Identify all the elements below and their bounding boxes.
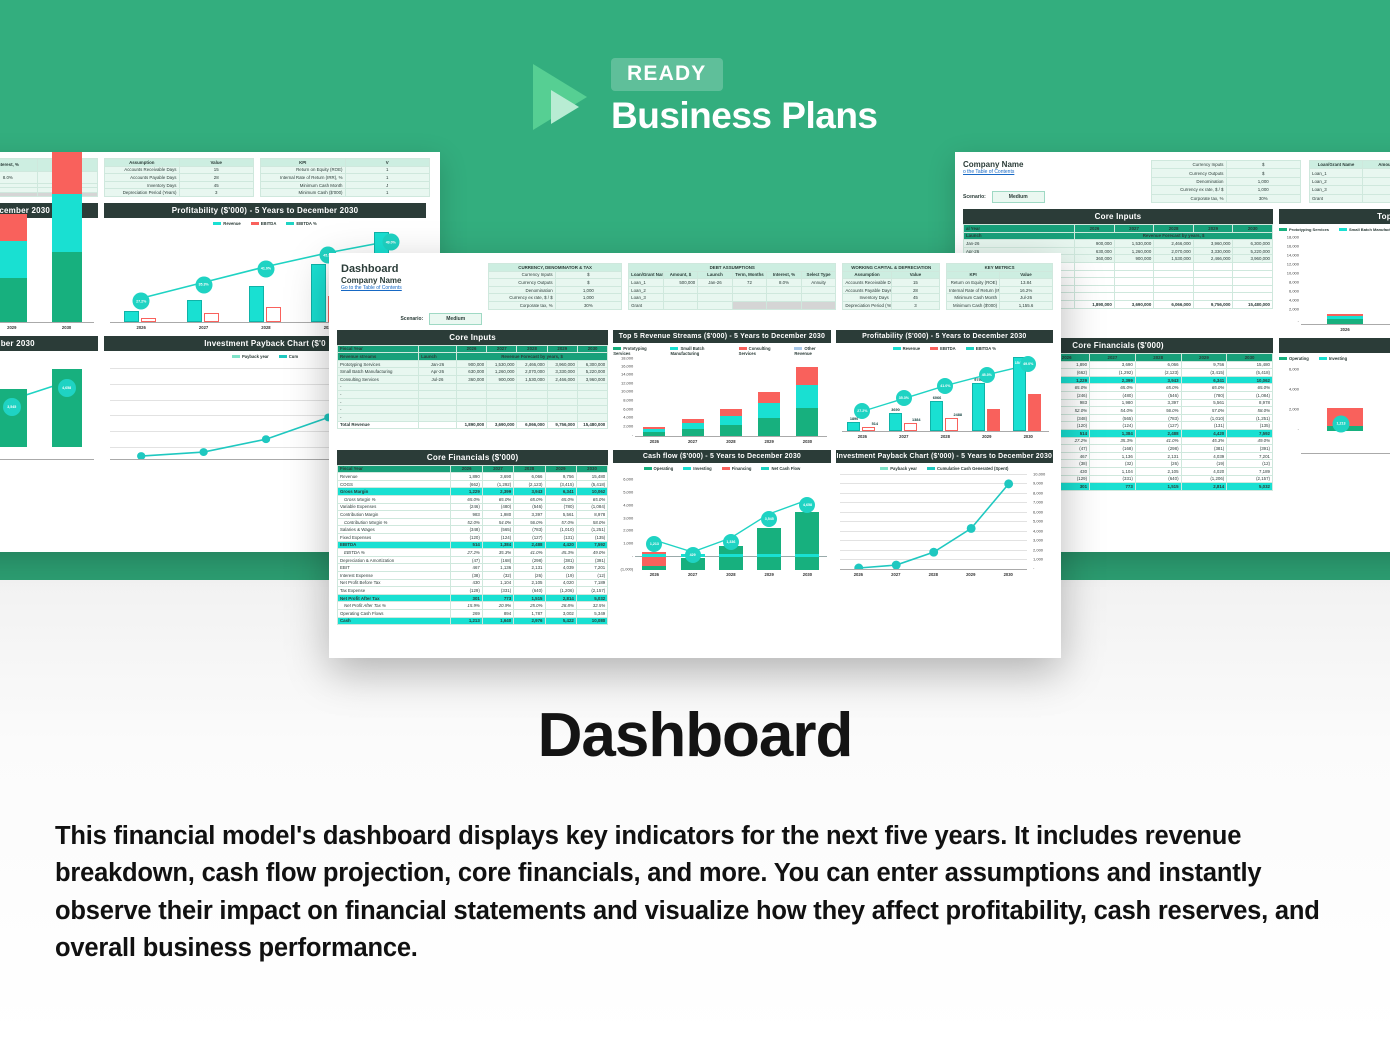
x-tick: 2028: [719, 572, 743, 577]
data-point: 1,336: [723, 534, 739, 550]
year-header: 2028: [514, 465, 545, 473]
financial-value: (32): [482, 571, 513, 579]
table-row[interactable]: Net Profit After Tax %15.9%20.9%25.0%28.…: [338, 602, 608, 610]
stream-name: -: [338, 391, 419, 399]
debt-cell: 72: [732, 279, 767, 287]
legend-item: Financing: [722, 466, 752, 471]
wc-col-header: Value: [891, 271, 939, 279]
stream-value: 630,000: [456, 368, 486, 376]
wc-cell: Inventory Days: [843, 294, 891, 302]
kpi-value: 1,155.6: [1000, 301, 1053, 309]
financial-value: (246): [451, 503, 482, 511]
legend-item: Other Revenue: [794, 346, 830, 356]
table-row[interactable]: Loan_3: [629, 294, 836, 302]
y-tick: 10,000: [1033, 471, 1053, 476]
legend-item: Net Cash Flow: [761, 466, 800, 471]
key-metrics-table: KEY METRICS KPIValue Return on Equity (R…: [946, 263, 1053, 310]
debt-col-header: Launch: [698, 271, 733, 279]
cash-flow-chart[interactable]: Cash flow ($'000) - 5 Years to December …: [613, 450, 830, 625]
legend-item: Small Batch Manufacturing: [670, 346, 728, 356]
y-tick: 2,000: [613, 528, 633, 533]
wc-cell: Depreciation Period (Years): [843, 301, 891, 309]
legend-item: Revenue: [893, 346, 920, 351]
financial-value: 5,032: [576, 594, 607, 602]
data-point: 41.0%: [937, 378, 953, 394]
financial-value: 58.0%: [576, 518, 607, 526]
revenue-streams-x-axis: 2026 2027 2028 2029 2030: [635, 439, 826, 444]
spreadsheet-panel-center[interactable]: Dashboard Company Name Go to the Table o…: [329, 253, 1061, 658]
x-tick: 2029: [972, 434, 1002, 439]
year-header: 2029: [545, 465, 576, 473]
financial-value: 32.5%: [576, 602, 607, 610]
stream-name: -: [338, 383, 419, 391]
debt-cell: Jan-26: [698, 279, 733, 287]
financial-value: (19): [545, 571, 576, 579]
cash-flow-x-axis: 2026 2027 2028 2029 2030: [635, 572, 826, 577]
debt-col-header: Interest, %: [767, 271, 802, 279]
currency-block-header: CURRENCY, DENOMINATOR & TAX: [489, 264, 622, 272]
x-tick: 2029: [959, 572, 983, 577]
wc-cell[interactable]: 28: [891, 286, 939, 294]
stream-value: 6,300,000: [577, 360, 607, 368]
financial-row-label: EBIT: [338, 564, 451, 572]
financial-value: 7,592: [576, 541, 607, 549]
financial-value: 5,349: [576, 609, 607, 617]
y-tick: 6,000: [613, 477, 633, 482]
bar-label: 2488: [954, 413, 962, 417]
bar-label: 6066: [933, 396, 941, 400]
x-tick: 2029: [757, 572, 781, 577]
wc-col-header: Assumption: [843, 271, 891, 279]
y-tick: 1,000: [1033, 557, 1053, 562]
financial-value: 54.0%: [482, 518, 513, 526]
table-row[interactable]: Net Profit Before Tax4301,1042,1054,0207…: [338, 579, 608, 587]
kpi-block-header: KEY METRICS: [947, 264, 1053, 272]
financial-row-label: EBITDA %: [338, 549, 451, 557]
fiscal-year-label: Fiscal Year: [338, 345, 419, 353]
financial-value: 8,978: [576, 511, 607, 519]
financial-value: (5,418): [576, 480, 607, 488]
stream-value: 2,466,000: [547, 376, 577, 384]
financial-value: 6,341: [545, 488, 576, 496]
currency-row-label: Currency Outputs: [489, 279, 556, 287]
currency-row-value[interactable]: $: [555, 271, 622, 279]
kpi-cell: Internal Rate of Return (IRR), %: [947, 286, 1000, 294]
financial-value: 467: [451, 564, 482, 572]
financial-row-label: Net Profit After Tax %: [338, 602, 451, 610]
stream-value: 2,466,000: [517, 360, 547, 368]
financial-value: (131): [545, 533, 576, 541]
table-row[interactable]: -: [338, 406, 608, 414]
x-tick: 2027: [884, 572, 908, 577]
year-header: 2026: [456, 345, 486, 353]
financial-value: 4,420: [545, 541, 576, 549]
y-tick: 1,000: [613, 541, 633, 546]
financial-value: 65.0%: [576, 496, 607, 504]
y-tick: 4,000: [613, 502, 633, 507]
financial-value: (662): [451, 480, 482, 488]
debt-table-right: Loan/Grant NameAmount, $Launch Loan_1500…: [1309, 160, 1390, 203]
financial-value: 5,422: [545, 617, 576, 625]
financial-row-label: Gross Margin: [338, 488, 451, 496]
stream-name: -: [338, 406, 419, 414]
financial-value: (3,415): [545, 480, 576, 488]
financial-value: (120): [451, 533, 482, 541]
financial-value: 20.9%: [482, 602, 513, 610]
financial-value: (168): [482, 556, 513, 564]
financial-value: 2,976: [514, 617, 545, 625]
y-tick: 10,000: [613, 389, 633, 394]
payback-x-axis: 2026 2027 2028 2029 2030: [840, 572, 1027, 577]
financial-value: (2,157): [576, 587, 607, 595]
year-header: 2029: [547, 345, 577, 353]
working-capital-table: WORKING CAPITAL & DEPRECIATION Assumptio…: [842, 263, 940, 310]
table-row[interactable]: EBITDA5141,3842,4884,4207,592: [338, 541, 608, 549]
profitability-legend: Revenue EBITDA EBITDA %: [836, 343, 1053, 352]
x-tick: 2030: [1013, 434, 1043, 439]
data-point: 429: [685, 547, 701, 563]
debt-col-header: Select Type: [801, 271, 836, 279]
legend-item: Prototyping Services: [613, 346, 660, 356]
financial-row-label: Depreciation & Amortization: [338, 556, 451, 564]
debt-cell: 8.0%: [767, 279, 802, 287]
toc-link[interactable]: Go to the Table of Contents: [341, 285, 482, 291]
profitability-chart-title: Profitability ($'000) - 5 Years to Decem…: [836, 330, 1053, 343]
currency-denominator-tax-table: CURRENCY, DENOMINATOR & TAX Currency Inp…: [488, 263, 622, 310]
total-revenue-value: 15,480,000: [577, 421, 607, 429]
kpi-col-header: KPI: [947, 271, 1000, 279]
financial-row-label: Contribution Margin: [338, 511, 451, 519]
profitability-chart[interactable]: Profitability ($'000) - 5 Years to Decem…: [836, 330, 1053, 444]
financial-value: 1,213: [451, 617, 482, 625]
table-row[interactable]: Loan_1 500,000 Jan-26 72 8.0% Annuity: [629, 279, 836, 287]
debt-col-header: Loan/Grant Name: [629, 271, 664, 279]
x-tick: 2030: [996, 572, 1020, 577]
year-header: 2030: [576, 465, 607, 473]
table-row[interactable]: Small Batch Manufacturing Apr-26 630,000…: [338, 368, 608, 376]
table-row[interactable]: -: [338, 413, 608, 421]
fiscal-year-label: Fiscal Year: [338, 465, 451, 473]
x-tick: 2026: [642, 572, 666, 577]
wc-block-header: WORKING CAPITAL & DEPRECIATION: [843, 264, 940, 272]
y-tick: -: [613, 432, 633, 437]
revenue-streams-chart-title: Top 5 Revenue Streams ($'000) - 5 Years …: [613, 330, 830, 343]
table-row[interactable]: Variable Expenses(246)(480)(546)(780)(1,…: [338, 503, 608, 511]
financial-row-label: Variable Expenses: [338, 503, 451, 511]
financial-value: 3,397: [514, 511, 545, 519]
debt-col-header: Term, Months: [732, 271, 767, 279]
financial-value: 28.8%: [545, 602, 576, 610]
financial-value: 65.0%: [545, 496, 576, 504]
cash-flow-legend: Operating Investing Financing Net Cash F…: [613, 463, 830, 472]
core-inputs-header: Core Inputs: [337, 330, 608, 345]
bar-label: 3690: [891, 408, 899, 412]
y-tick: (1,000): [613, 566, 633, 571]
ready-badge: READY: [611, 58, 723, 91]
y-tick: 2,000: [1033, 547, 1053, 552]
table-row[interactable]: Operating Cash Flows2698941,7873,0025,34…: [338, 609, 608, 617]
page-description: This financial model's dashboard display…: [55, 818, 1345, 968]
currency-row-value[interactable]: 1,000: [555, 286, 622, 294]
investment-payback-chart[interactable]: Investment Payback Chart ($'000) - 5 Yea…: [836, 450, 1053, 625]
stream-value: 360,000: [456, 376, 486, 384]
financial-value: 514: [451, 541, 482, 549]
scenario-select[interactable]: Medium: [429, 313, 482, 325]
wc-cell[interactable]: 45: [891, 294, 939, 302]
financial-value: 5,561: [545, 511, 576, 519]
stream-value: 3,960,000: [547, 360, 577, 368]
stream-value: 5,220,000: [577, 368, 607, 376]
table-row[interactable]: EBITDA %27.2%35.3%41.0%45.3%49.0%: [338, 549, 608, 557]
bar-label: 4420: [995, 404, 1003, 408]
financial-row-label: Interest Expense: [338, 571, 451, 579]
financial-value: 3,943: [514, 488, 545, 496]
kpi-value: Jul-26: [1000, 294, 1053, 302]
financial-value: 3,690: [482, 473, 513, 481]
currency-row-label: Currency ex rate, $ / $: [489, 294, 556, 302]
financial-value: 7,201: [576, 564, 607, 572]
financial-value: 1,384: [482, 541, 513, 549]
financial-value: 430: [451, 579, 482, 587]
scenario-label-right: Scenario:: [963, 194, 986, 200]
financial-value: 7,189: [576, 579, 607, 587]
debt-assumptions-table-left: Amount, $LaunchTerm, MonthsInterest, %Se…: [0, 158, 98, 197]
stream-launch: Jan-26: [419, 360, 457, 368]
financial-value: 56.0%: [514, 518, 545, 526]
financial-value: (47): [451, 556, 482, 564]
x-tick: 2027: [682, 439, 704, 444]
financial-row-label: Operating Cash Flows: [338, 609, 451, 617]
currency-row-value[interactable]: $: [555, 279, 622, 287]
currency-row-label: Denomination: [489, 286, 556, 294]
stream-value: 3,330,000: [547, 368, 577, 376]
financial-row-label: Cash: [338, 617, 451, 625]
table-row[interactable]: Consulting Services Jul-26 360,000 900,0…: [338, 376, 608, 384]
debt-cell: Loan_3: [629, 294, 664, 302]
kpi-value: 13.84: [1000, 279, 1053, 287]
data-point: 27.2%: [854, 403, 870, 419]
financial-value: 2,488: [514, 541, 545, 549]
stream-name: -: [338, 413, 419, 421]
financial-row-label: Revenue: [338, 473, 451, 481]
scenario-value-right[interactable]: Medium: [992, 191, 1045, 203]
financial-value: (640): [514, 587, 545, 595]
financial-row-label: Net Profit After Tax: [338, 594, 451, 602]
financial-value: 1,229: [451, 488, 482, 496]
wc-cell: Accounts Receivable Days: [843, 279, 891, 287]
toc-link-right[interactable]: o the Table of Contents: [963, 169, 1143, 175]
financial-value: 1,980: [482, 511, 513, 519]
table-row[interactable]: Revenue1,8903,6906,0669,75615,480: [338, 473, 608, 481]
page-title: Dashboard: [0, 700, 1390, 771]
financial-value: 2,814: [545, 594, 576, 602]
stream-name: Prototyping Services: [338, 360, 419, 368]
table-row[interactable]: -: [338, 383, 608, 391]
table-row[interactable]: Gross Margin1,2292,3993,9436,34110,062: [338, 488, 608, 496]
financial-value: 269: [451, 609, 482, 617]
financial-value: (331): [482, 587, 513, 595]
legend-item: Payback year: [880, 466, 917, 471]
stream-value: 900,000: [487, 376, 517, 384]
data-point: 3,545: [761, 511, 777, 527]
stream-value: 900,000: [456, 360, 486, 368]
stream-name: Small Batch Manufacturing: [338, 368, 419, 376]
table-row[interactable]: Net Profit After Tax3017731,5152,8145,03…: [338, 594, 608, 602]
x-tick: 2027: [681, 572, 705, 577]
financial-value: 1,136: [482, 564, 513, 572]
financial-row-label: Gross Margin %: [338, 496, 451, 504]
table-row[interactable]: Depreciation & Amortization(47)(168)(298…: [338, 556, 608, 564]
stream-name: Consulting Services: [338, 376, 419, 384]
currency-table-right: Currency Inputs$ Currency Outputs$ Denom…: [1151, 160, 1301, 203]
currency-row-value[interactable]: 1,000: [555, 294, 622, 302]
financial-value: 57.0%: [545, 518, 576, 526]
financial-value: (348): [451, 526, 482, 534]
bar-stack: [796, 367, 818, 436]
bar-label: 514: [872, 422, 878, 426]
core-financials-header: Core Financials ($'000): [337, 450, 608, 465]
debt-block-header: DEBT ASSUMPTIONS: [629, 264, 836, 272]
launch-label: Launch: [419, 353, 457, 361]
financial-value: (1,292): [482, 480, 513, 488]
financial-value: 65.0%: [451, 496, 482, 504]
debt-cell: 500,000: [663, 279, 698, 287]
total-revenue-value: 3,690,000: [487, 421, 517, 429]
kpi-cell: Minimum Cash Month: [947, 294, 1000, 302]
company-name-right: Company Name: [963, 160, 1143, 169]
financial-value: 65.0%: [482, 496, 513, 504]
financial-value: 301: [451, 594, 482, 602]
financial-value: 45.3%: [545, 549, 576, 557]
table-row[interactable]: Cash1,2131,6402,9765,42210,080: [338, 617, 608, 625]
currency-row-value[interactable]: 30%: [555, 301, 622, 309]
y-tick: 8,000: [613, 398, 633, 403]
total-revenue-value: 9,756,000: [547, 421, 577, 429]
table-row[interactable]: Tax Expense(129)(331)(640)(1,206)(2,157): [338, 587, 608, 595]
stream-value: 2,070,000: [517, 368, 547, 376]
y-tick: 3,000: [1033, 538, 1053, 543]
stream-value: 1,260,000: [487, 368, 517, 376]
table-row[interactable]: Fixed Expenses(120)(124)(127)(131)(135): [338, 533, 608, 541]
financial-value: 27.2%: [451, 549, 482, 557]
y-tick: 16,000: [613, 364, 633, 369]
y-tick: 14,000: [613, 372, 633, 377]
financial-value: 773: [482, 594, 513, 602]
financial-value: 41.0%: [514, 549, 545, 557]
financial-value: (480): [482, 503, 513, 511]
y-tick: 9,000: [1033, 481, 1053, 486]
table-row[interactable]: Interest Expense(38)(32)(26)(19)(12): [338, 571, 608, 579]
table-row[interactable]: Gross Margin %65.0%65.0%65.0%65.0%65.0%: [338, 496, 608, 504]
table-row[interactable]: Contribution Margin %52.0%54.0%56.0%57.0…: [338, 518, 608, 526]
wc-cell[interactable]: 15: [891, 279, 939, 287]
y-tick: -: [613, 553, 633, 558]
table-row[interactable]: EBIT4671,1362,1314,0397,201: [338, 564, 608, 572]
table-row[interactable]: Salaries & Wages(348)(565)(783)(1,010)(1…: [338, 526, 608, 534]
total-revenue-value: 1,890,000: [456, 421, 486, 429]
financial-row-label: Contribution Margin %: [338, 518, 451, 526]
key-metrics-table-left: KPIV Return on Equity (ROE)1 Internal Ra…: [260, 158, 430, 197]
debt-cell: Grant: [629, 301, 664, 309]
x-tick: 2027: [889, 434, 919, 439]
financial-value: 4,020: [545, 579, 576, 587]
financial-value: 10,062: [576, 488, 607, 496]
debt-assumptions-table: DEBT ASSUMPTIONS Loan/Grant Name Amount,…: [628, 263, 836, 310]
table-row[interactable]: -: [338, 398, 608, 406]
data-point: 49.0%: [1020, 356, 1036, 372]
y-tick: 5,000: [613, 490, 633, 495]
financial-value: 4,039: [545, 564, 576, 572]
core-financials-table: Fiscal Year 2026 2027 2028 2029 2030 Rev…: [337, 465, 608, 625]
financial-value: (391): [576, 556, 607, 564]
y-tick: 2,000: [613, 424, 633, 429]
financial-value: (26): [514, 571, 545, 579]
table-row[interactable]: COGS(662)(1,292)(2,123)(3,415)(5,418): [338, 480, 608, 488]
table-row[interactable]: Loan_2: [629, 286, 836, 294]
financial-value: 2,399: [482, 488, 513, 496]
wc-cell[interactable]: 3: [891, 301, 939, 309]
core-inputs-table: Fiscal Year 2026 2027 2028 2029 2030 Rev…: [337, 345, 608, 430]
financial-value: (1,084): [576, 503, 607, 511]
table-row[interactable]: -: [338, 391, 608, 399]
table-row[interactable]: Contribution Margin9831,9803,3975,5618,9…: [338, 511, 608, 519]
financial-value: 65.0%: [514, 496, 545, 504]
play-triangle-icon: [525, 60, 597, 132]
revenue-streams-chart[interactable]: Top 5 Revenue Streams ($'000) - 5 Years …: [613, 330, 830, 444]
financial-value: (2,123): [514, 480, 545, 488]
data-point: 1,213: [646, 536, 662, 552]
financial-value: (124): [482, 533, 513, 541]
financial-value: 15.9%: [451, 602, 482, 610]
table-row[interactable]: Prototyping Services Jan-26 900,000 1,53…: [338, 360, 608, 368]
financial-value: (129): [451, 587, 482, 595]
payback-plot: 10,000 9,000 8,000 7,000 6,000 5,000 4,0…: [840, 472, 1027, 570]
data-point: 35.3%: [896, 390, 912, 406]
year-header: 2028: [517, 345, 547, 353]
financial-value: 3,002: [545, 609, 576, 617]
financial-value: 1,890: [451, 473, 482, 481]
y-tick: 8,000: [1033, 490, 1053, 495]
total-revenue-label: Total Revenue: [338, 421, 419, 429]
working-capital-table-left: AssumptionValue Accounts Receivable Days…: [104, 158, 254, 197]
debt-cell: Loan_1: [629, 279, 664, 287]
financial-value: 10,080: [576, 617, 607, 625]
y-tick: 4,000: [613, 415, 633, 420]
total-revenue-value: 6,066,000: [517, 421, 547, 429]
financial-value: 49.0%: [576, 549, 607, 557]
financial-row-label: Salaries & Wages: [338, 526, 451, 534]
bar-stack: [682, 419, 704, 436]
financial-value: 2,131: [514, 564, 545, 572]
bar-pair: [889, 413, 919, 431]
financial-value: (546): [514, 503, 545, 511]
financial-value: 15,480: [576, 473, 607, 481]
stream-value: 3,960,000: [577, 376, 607, 384]
financial-value: (127): [514, 533, 545, 541]
y-tick: 6,000: [613, 406, 633, 411]
dashboard-title: Dashboard: [341, 263, 482, 276]
bar-stack: [720, 409, 742, 436]
debt-cell: Annuity: [801, 279, 836, 287]
cash-flow-chart-title: Cash flow ($'000) - 5 Years to December …: [613, 450, 830, 463]
financial-value: (12): [576, 571, 607, 579]
table-row[interactable]: Grant: [629, 301, 836, 309]
year-header: 2027: [482, 465, 513, 473]
bar-stack: [758, 392, 780, 436]
financial-value: (38): [451, 571, 482, 579]
financial-row-label: EBITDA: [338, 541, 451, 549]
kpi-cell: Minimum Cash ($'000): [947, 301, 1000, 309]
